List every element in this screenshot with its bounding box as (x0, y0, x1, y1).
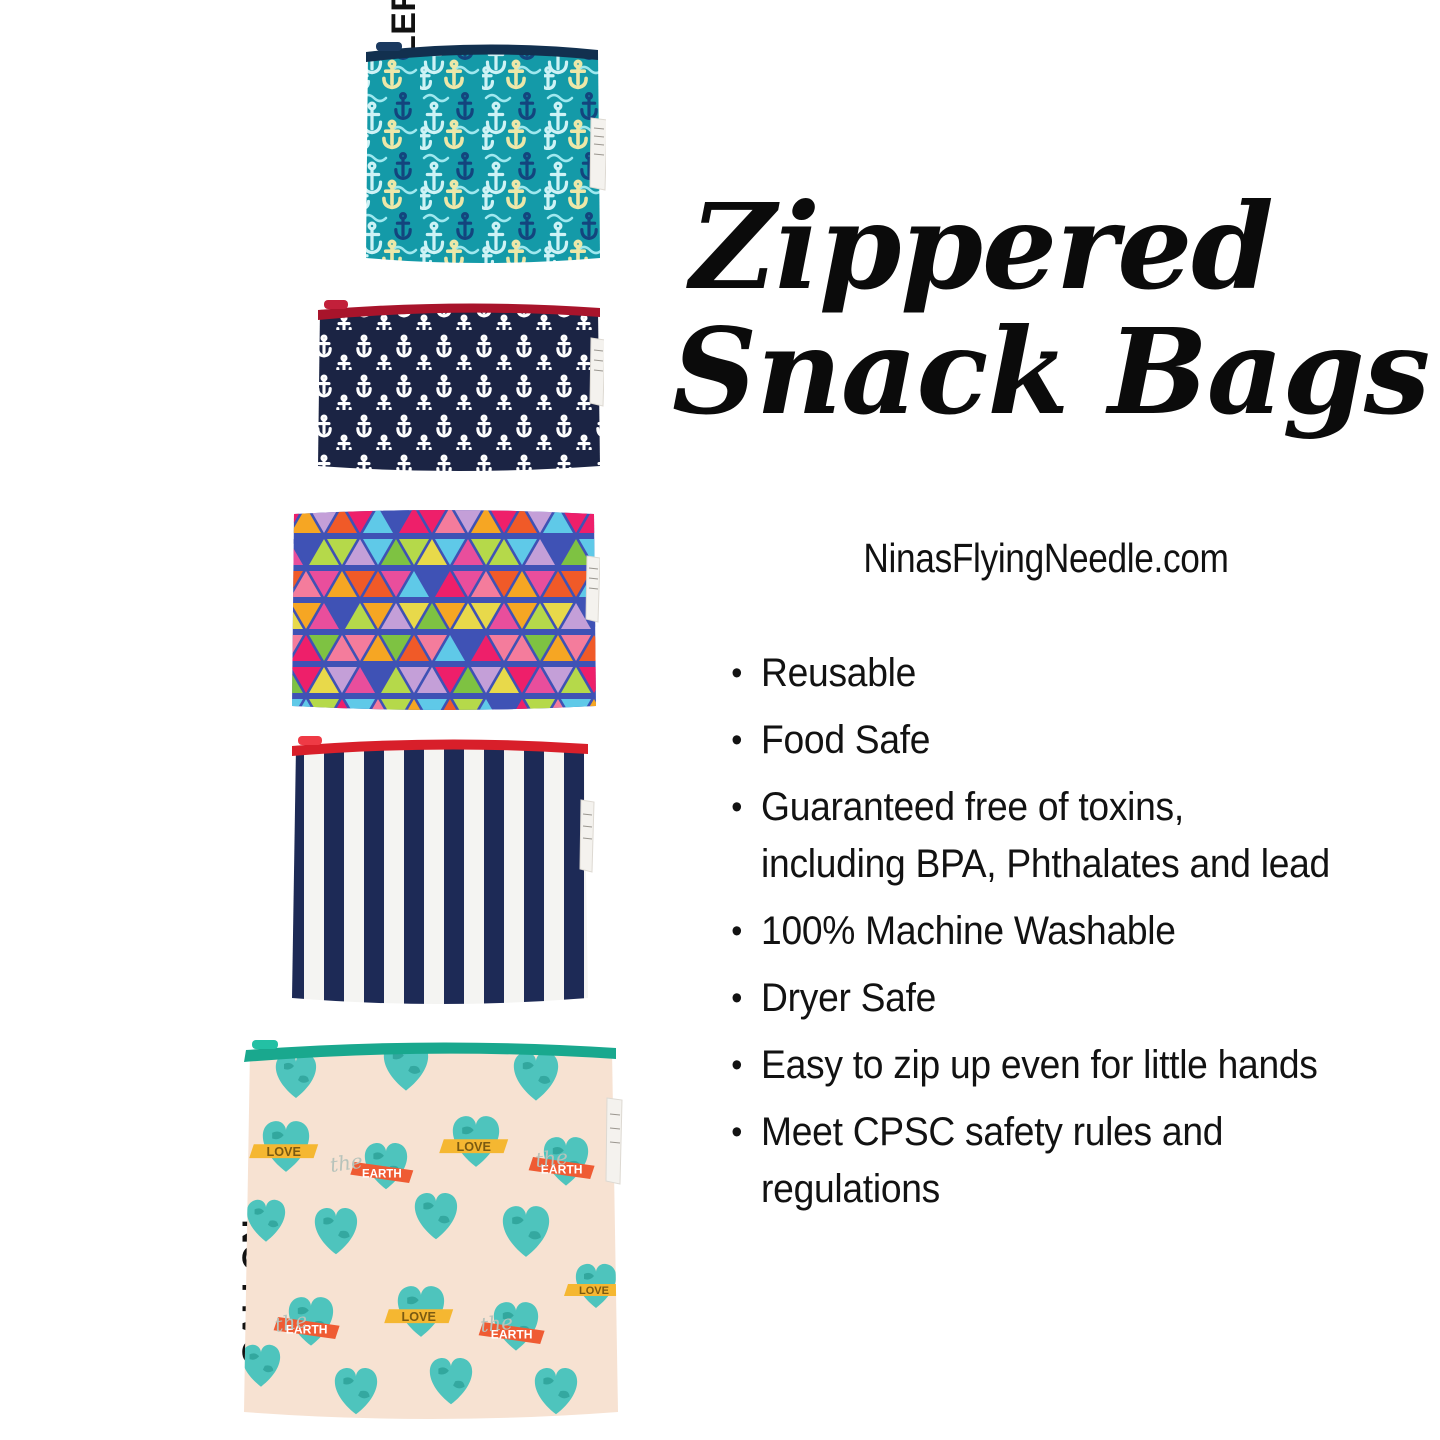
svg-text:LOVE: LOVE (266, 1145, 300, 1159)
product-image-sandwich (284, 730, 596, 1012)
list-item: Dryer Safe (722, 970, 1336, 1027)
product-image-gallon: LOVEEARTHLOVEEARTHEARTHLOVEEARTHLOVEthet… (236, 1032, 624, 1428)
product-image-toddler (358, 30, 606, 270)
page-title-line-2: Snack Bags (672, 308, 1420, 436)
svg-text:EARTH: EARTH (362, 1169, 402, 1181)
svg-text:LOVE: LOVE (401, 1310, 435, 1324)
feature-list: Reusable Food Safe Guaranteed free of to… (722, 645, 1382, 1228)
infographic-page: TODDLER KNICK KNACK SNACK SANDWICH GALLO… (0, 0, 1440, 1440)
svg-text:the: the (328, 1149, 364, 1177)
svg-text:LOVE: LOVE (579, 1285, 609, 1297)
svg-text:the: the (534, 1145, 569, 1172)
title-block: Zippered Snack Bags (672, 186, 1420, 436)
list-item: 100% Machine Washable (722, 903, 1336, 960)
svg-text:LOVE: LOVE (456, 1140, 490, 1154)
website-url[interactable]: NinasFlyingNeedle.com (724, 535, 1367, 582)
product-image-knick-knack (314, 290, 604, 478)
list-item: Guaranteed free of toxins, including BPA… (722, 779, 1336, 893)
list-item: Easy to zip up even for little hands (722, 1037, 1336, 1094)
list-item: Reusable (722, 645, 1336, 702)
list-item: Food Safe (722, 712, 1336, 769)
page-title-line-1: Zippered (672, 186, 1420, 308)
svg-text:the: the (479, 1310, 514, 1337)
list-item: Meet CPSC safety rules and regulations (722, 1104, 1336, 1218)
product-image-snack (288, 504, 600, 716)
